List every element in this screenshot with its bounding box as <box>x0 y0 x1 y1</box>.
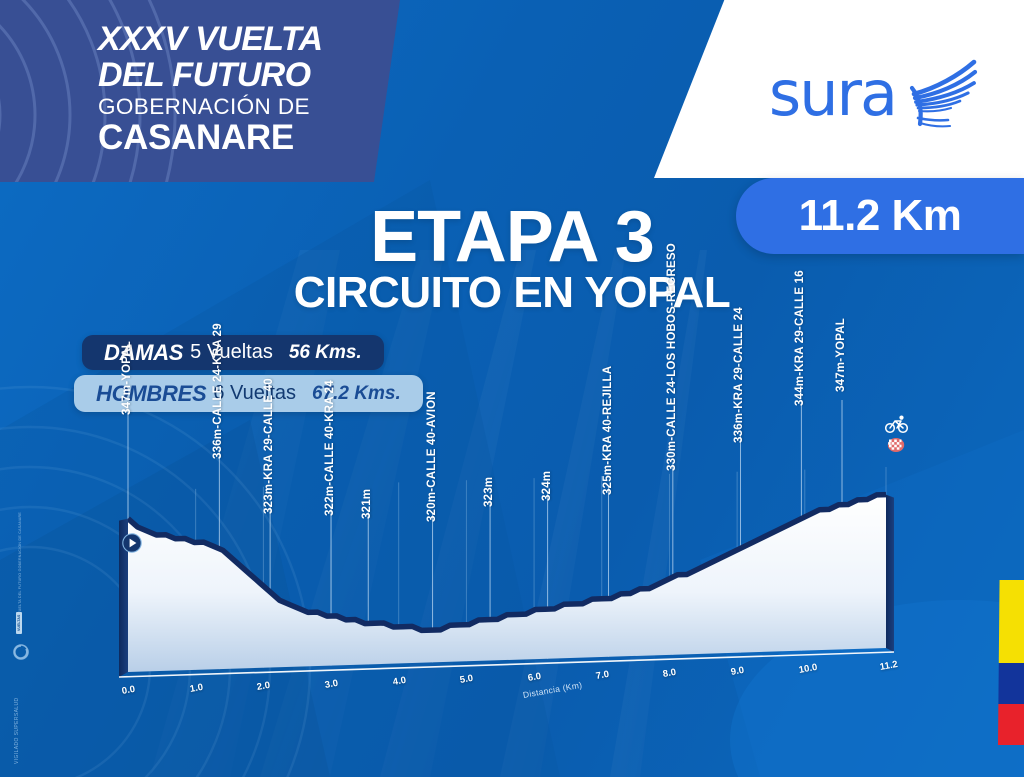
event-title-line3: GOBERNACIÓN DE <box>98 96 398 119</box>
elevation-label-1: 336m-CALLE 24-KRA 29 <box>212 323 224 459</box>
colombia-flag-icon <box>998 580 1024 745</box>
elevation-label-8: 325m-KRA 40-REJILLA <box>602 365 614 494</box>
flag-stripe-yellow <box>998 580 1024 663</box>
elevation-label-11: 344m-KRA 29-CALLE 16 <box>794 270 806 406</box>
sura-logo: sura <box>769 58 980 130</box>
x-tick-8: 8.0 <box>662 667 677 680</box>
elevation-profile-chart: 347m-YOPAL336m-CALLE 24-KRA 29323m-KRA 2… <box>0 400 1024 777</box>
flag-stripe-blue <box>998 663 1024 704</box>
watermark-seal-icon <box>9 640 33 760</box>
category-laps-damas: 5 Vueltas <box>190 341 273 364</box>
stage-title: ETAPA 3 <box>0 196 1024 278</box>
chart-area-series <box>119 495 894 677</box>
elevation-label-12: 347m-YOPAL <box>835 318 847 392</box>
cyclist-icon <box>886 416 908 433</box>
infographic-canvas: XXXV VUELTA DEL FUTURO GOBERNACIÓN DE CA… <box>0 0 1024 777</box>
stage-subtitle: CIRCUITO EN YOPAL <box>0 268 1024 318</box>
elevation-label-3: 322m-CALLE 40-KRA 24 <box>324 380 336 516</box>
watermark-bottom-credit: VIGILADO SUPERSALUD <box>14 697 20 764</box>
elevation-label-5: 320m-CALLE 40-AVION <box>426 391 438 522</box>
elevation-label-7: 324m <box>541 471 553 501</box>
elevation-label-2: 323m-KRA 29-CALLE 40 <box>263 378 275 514</box>
side-credit-badge: VUELTAS <box>16 612 22 634</box>
event-logo-panel: XXXV VUELTA DEL FUTURO GOBERNACIÓN DE CA… <box>0 0 400 182</box>
event-title-line4: CASANARE <box>98 120 398 155</box>
event-title-line2: DEL FUTURO <box>98 58 398 92</box>
elevation-label-9: 330m-CALLE 24-LOS HOBOS-REGRESO <box>666 243 678 471</box>
event-title: XXXV VUELTA DEL FUTURO GOBERNACIÓN DE CA… <box>98 22 398 155</box>
checkered-flag-icon <box>888 438 904 452</box>
play-circle-icon <box>122 533 142 553</box>
finish-marker <box>884 413 910 469</box>
x-tick-1: 1.0 <box>189 682 204 695</box>
x-tick-0: 0.0 <box>121 684 136 697</box>
category-total-damas: 56 Kms. <box>289 342 362 364</box>
elevation-label-0: 347m-YOPAL <box>121 341 133 415</box>
wing-icon <box>906 58 980 130</box>
sura-wordmark: sura <box>769 63 896 125</box>
x-tick-7: 7.0 <box>595 669 610 682</box>
event-title-line1: XXXV VUELTA <box>98 22 398 56</box>
x-tick-2: 2.0 <box>256 679 271 692</box>
elevation-label-10: 336m-KRA 29-CALLE 24 <box>733 307 745 443</box>
side-credit-text: VUELTA DEL FUTURO GOBERNACION DE CASANAR… <box>18 512 22 614</box>
elevation-label-6: 323m <box>483 477 495 507</box>
flag-stripe-red <box>998 704 1024 745</box>
elevation-profile-svg <box>0 400 1024 777</box>
x-tick-9: 9.0 <box>730 664 745 677</box>
elevation-label-4: 321m <box>361 489 373 519</box>
x-tick-3: 3.0 <box>324 677 339 690</box>
category-name-damas: DAMAS <box>104 340 183 366</box>
